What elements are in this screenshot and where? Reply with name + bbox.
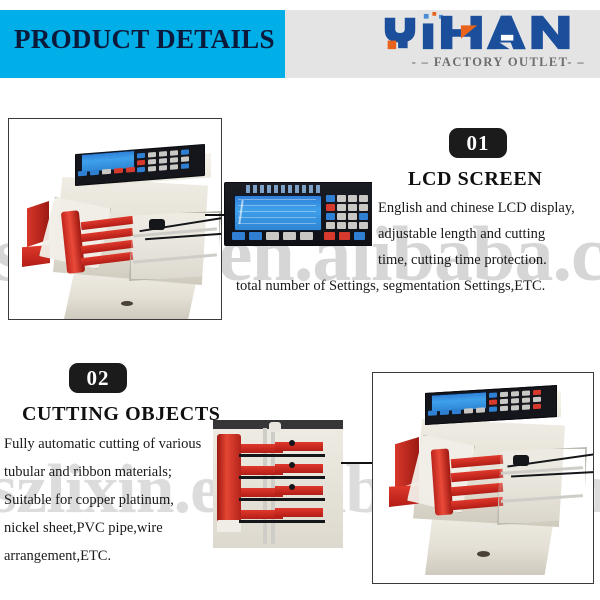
- section-02-line-4: nickel sheet,PVC pipe,wire: [4, 520, 163, 537]
- section-title-02: CUTTING OBJECTS: [22, 403, 221, 426]
- section-badge-02: 02: [69, 363, 127, 393]
- photo-lcd-panel-closeup: [224, 182, 372, 250]
- photo-machine-full-top: [8, 118, 222, 320]
- photo-cutting-rollers-closeup: [213, 420, 343, 548]
- section-title-01: LCD SCREEN: [408, 168, 542, 191]
- section-02-line-1: Fully automatic cutting of various: [4, 436, 201, 453]
- section-01-line-4: total number of Settings, segmentation S…: [236, 278, 545, 295]
- brand-logo: - – FACTORY OUTLET- –: [375, 12, 590, 78]
- yihan-logo-icon: [374, 12, 586, 52]
- section-01-line-2: adjustable length and cutting: [378, 226, 545, 243]
- section-01-line-3: time, cutting time protection.: [378, 252, 547, 269]
- brand-tagline: - – FACTORY OUTLET- –: [412, 55, 585, 70]
- section-02-line-3: Suitable for copper platinum,: [4, 492, 174, 509]
- panel-chinese-label: [246, 185, 322, 193]
- section-01-line-1: English and chinese LCD display,: [378, 200, 575, 217]
- photo-machine-full-bottom: [372, 372, 594, 584]
- section-02-line-2: tubular and ribbon materials;: [4, 464, 172, 481]
- section-badge-01: 01: [449, 128, 507, 158]
- page-header: PRODUCT DETAILS: [0, 10, 600, 78]
- section-02-line-5: arrangement,ETC.: [4, 548, 111, 565]
- product-details-page: PRODUCT DETAILS: [0, 0, 600, 600]
- page-title: PRODUCT DETAILS: [14, 24, 284, 55]
